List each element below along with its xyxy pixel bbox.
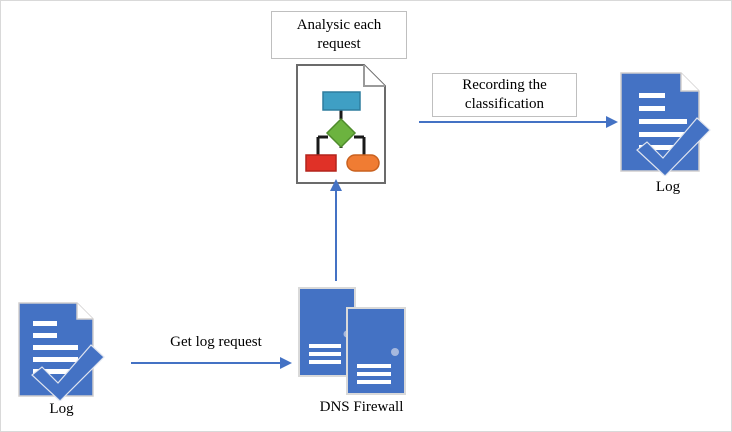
node-label-log-left: Log [9,401,114,418]
document-check-icon-right [617,71,717,176]
diagram-canvas: Analysic each request Recording the clas… [0,0,732,432]
flowchart-document-icon [296,64,386,184]
edge-label-get-log-request: Get log request [141,334,291,351]
callout-analysic-each-request: Analysic each request [271,11,407,59]
arrow-dns-to-analysis [335,191,337,281]
arrow-analysis-to-log [419,121,607,123]
node-label-log-right: Log [613,179,723,196]
callout-recording-the-classification: Recording the classification [432,73,577,117]
node-label-dns-firewall: DNS Firewall [289,399,434,416]
arrow-log-to-dns [131,362,281,364]
server-stack-icon [297,286,407,396]
document-check-icon-left [15,301,115,401]
